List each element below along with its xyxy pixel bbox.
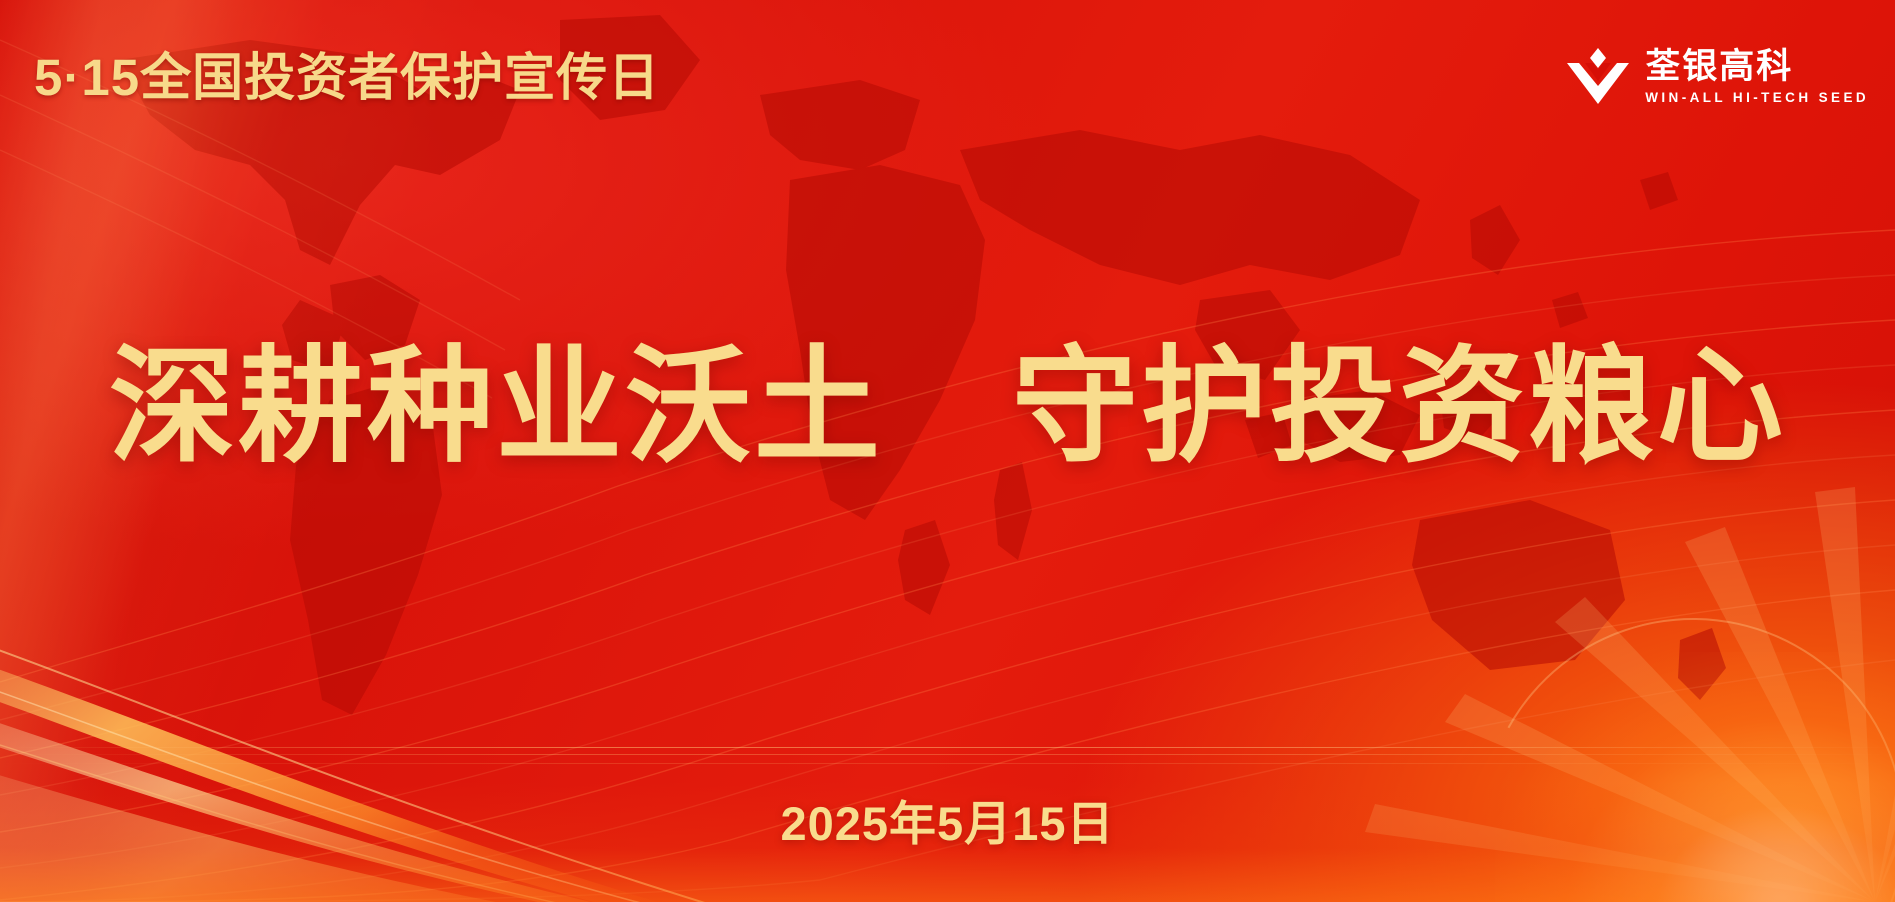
campaign-kicker: 5·15全国投资者保护宣传日 [34,52,660,103]
main-slogan: 深耕种业沃土 守护投资粮心 [0,344,1895,470]
logo-wordmark: 荃银高科 WIN-ALL HI-TECH SEED [1645,49,1869,105]
event-date: 2025年5月15日 [0,800,1895,847]
promotional-banner: 5·15全国投资者保护宣传日 荃银高科 WIN-ALL HI-TECH SEED… [0,0,1895,902]
logo-name-cn: 荃银高科 [1645,49,1869,84]
company-logo: 荃银高科 WIN-ALL HI-TECH SEED [1565,46,1869,108]
logo-name-en: WIN-ALL HI-TECH SEED [1645,91,1869,105]
win-all-chevron-logo-icon [1565,46,1631,108]
